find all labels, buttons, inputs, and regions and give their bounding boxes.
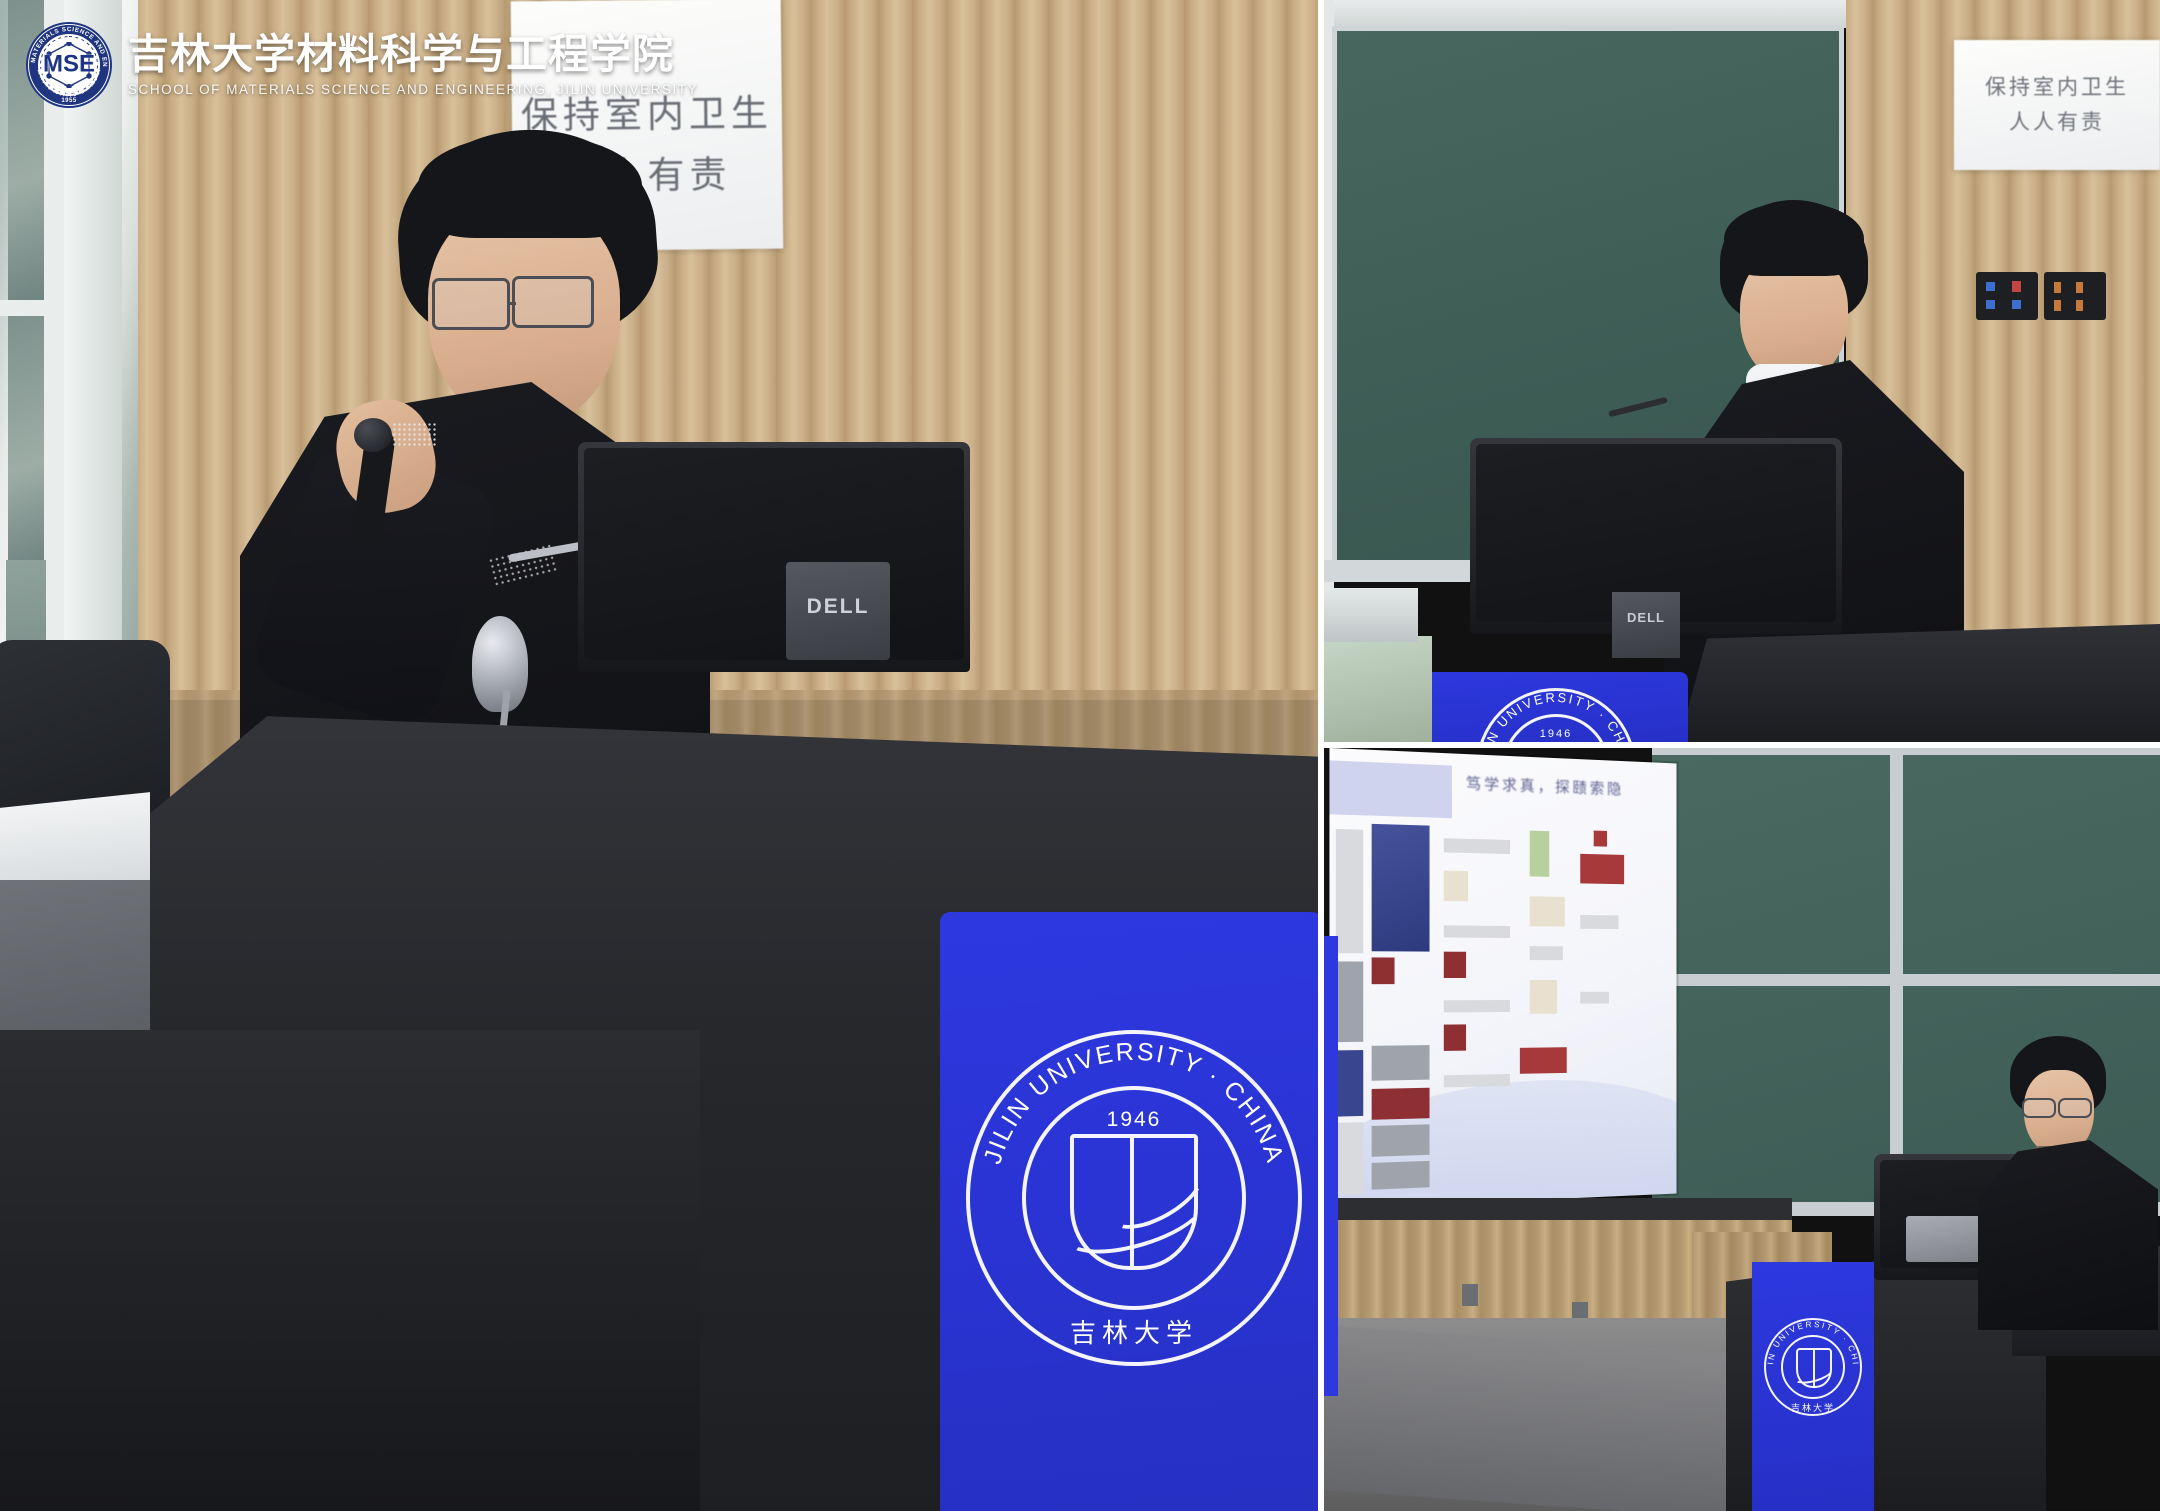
lectern-tr xyxy=(1678,624,2160,746)
presenter-glasses-bridge xyxy=(508,302,516,305)
school-name-cn: 吉林大学材料科学与工程学院 xyxy=(128,33,698,76)
photo-collage: 保持室内卫生 人人有责 xyxy=(0,0,2160,1511)
brand-text-block: 吉林大学材料科学与工程学院 SCHOOL OF MATERIALS SCIENC… xyxy=(128,33,698,97)
wall-notice-tr-line2: 人人有责 xyxy=(2009,105,2105,140)
seal-year-tr: 1946 xyxy=(1476,728,1636,740)
school-name-en: SCHOOL OF MATERIALS SCIENCE AND ENGINEER… xyxy=(128,82,698,97)
wall-notice-tr-line1: 保持室内卫生 xyxy=(1985,70,2129,105)
slide-thumb xyxy=(1444,871,1468,902)
wall-notice-sign-tr: 保持室内卫生 人人有责 xyxy=(1954,40,2160,170)
slide-thumb xyxy=(1530,896,1565,926)
jilin-seal-tr: JILIN UNIVERSITY · CHINA 1946 xyxy=(1476,688,1636,746)
slide-thumb xyxy=(1594,831,1607,847)
slide-thumb xyxy=(1580,854,1624,884)
slide-thumb xyxy=(1372,1045,1430,1081)
panel-speaker-behind-monitor: 保持室内卫生 人人有责 DELL xyxy=(1322,0,2160,746)
panel-gutter-vertical xyxy=(1318,0,1324,1511)
slide-thumb xyxy=(1336,961,1363,1042)
slide-thumb xyxy=(1444,952,1466,978)
slide-thumb xyxy=(1444,838,1510,854)
mse-emblem-icon: MSE SCHOOL OF MATERIALS SCIENCE AND ENGI… xyxy=(26,22,112,108)
presenter-glasses-br-left xyxy=(2022,1098,2056,1118)
projection-screen: 笃学求真，探赜索隐 xyxy=(1329,748,1676,1209)
presenter-glasses-br-right xyxy=(2058,1098,2092,1118)
slide-accent-band xyxy=(1329,760,1451,818)
presenter-blazer-br xyxy=(1978,1140,2158,1330)
slide-thumb xyxy=(1444,925,1510,938)
side-table xyxy=(1322,588,1418,642)
slide-thumb xyxy=(1372,1088,1430,1120)
panel-lecture-hall-wide: 笃学求真，探赜索隐 xyxy=(1322,746,2160,1511)
seal-chinese-name-br: 吉林大学 xyxy=(1764,1401,1862,1414)
svg-text:SCHOOL OF MATERIALS SCIENCE AN: SCHOOL OF MATERIALS SCIENCE AND ENGINEER… xyxy=(23,17,108,67)
gooseneck-mic-head xyxy=(472,616,528,712)
seal-chinese-name: 吉林大学 xyxy=(966,1313,1302,1350)
board-divider-horizontal xyxy=(1652,974,2160,986)
slide-thumb xyxy=(1530,831,1550,877)
presenter-fringe xyxy=(418,134,642,238)
wall-outlet xyxy=(1462,1284,1478,1306)
dell-logo-tr: DELL xyxy=(1612,606,1680,628)
slide-thumb xyxy=(1372,1124,1430,1156)
presenter-fringe-tr xyxy=(1724,202,1864,276)
mse-year-label: 1955 xyxy=(26,98,112,104)
mse-arc-bottom-label: 吉林大学材料科学与工程学院 xyxy=(36,67,102,98)
microphone-head xyxy=(354,418,392,452)
lectern-banner-tr: JILIN UNIVERSITY · CHINA 1946 xyxy=(1414,672,1688,746)
jilin-university-seal: JILIN UNIVERSITY · CHINA 1946 吉林大学 xyxy=(966,1030,1302,1366)
slide-title: 笃学求真，探赜索隐 xyxy=(1466,772,1624,799)
slide-thumb xyxy=(1530,946,1563,960)
slide-thumb xyxy=(1444,1000,1510,1012)
svg-text:吉林大学材料科学与工程学院: 吉林大学材料科学与工程学院 xyxy=(36,67,102,98)
slide-thumb xyxy=(1336,1122,1363,1195)
presenter-monitor xyxy=(578,442,970,672)
slide-thumb xyxy=(1580,992,1609,1004)
presenter-glasses-right xyxy=(512,276,594,328)
slide-thumb xyxy=(1520,1047,1567,1074)
panel-speaker-closeup: 保持室内卫生 人人有责 xyxy=(0,0,1322,1511)
lectern-banner: JILIN UNIVERSITY · CHINA 1946 吉林大学 xyxy=(940,912,1322,1511)
slide-thumb xyxy=(1444,1074,1510,1087)
lectern-lower-shelf xyxy=(0,1030,700,1511)
seal-year: 1946 xyxy=(966,1108,1302,1132)
slide-thumb xyxy=(1372,957,1395,984)
jilin-seal-br: JILIN UNIVERSITY · CHINA 吉林大学 xyxy=(1764,1318,1862,1416)
mse-arc-top-label: SCHOOL OF MATERIALS SCIENCE AND ENGINEER… xyxy=(23,17,108,67)
cloth-on-table xyxy=(1322,636,1432,746)
slide-thumb xyxy=(1372,1161,1430,1190)
slide-poster xyxy=(1372,824,1430,952)
lapel-clip xyxy=(392,422,438,448)
panel-gutter-horizontal xyxy=(1318,742,2160,748)
presenter-figure-br xyxy=(1982,1036,2160,1336)
brand-header: MSE SCHOOL OF MATERIALS SCIENCE AND ENGI… xyxy=(0,0,698,108)
slide-thumb xyxy=(1580,915,1618,929)
slide-thumb xyxy=(1336,1050,1363,1117)
slide-thumb xyxy=(1336,829,1363,953)
lectern-banner-br: JILIN UNIVERSITY · CHINA 吉林大学 xyxy=(1752,1262,1874,1511)
mse-arc-text: SCHOOL OF MATERIALS SCIENCE AND ENGINEER… xyxy=(26,22,112,108)
banner-edge-bleed xyxy=(1322,936,1338,1396)
slide-thumb xyxy=(1444,1024,1466,1051)
board-divider-vertical xyxy=(1890,746,1903,1216)
dado-top-rail xyxy=(1322,1198,1792,1220)
monitor-screen xyxy=(584,448,964,660)
slide-thumb xyxy=(1530,980,1557,1014)
dell-logo-main: DELL xyxy=(786,590,890,624)
presenter-glasses-left xyxy=(432,278,510,330)
wall-switch-plate-right[interactable] xyxy=(2044,272,2106,320)
